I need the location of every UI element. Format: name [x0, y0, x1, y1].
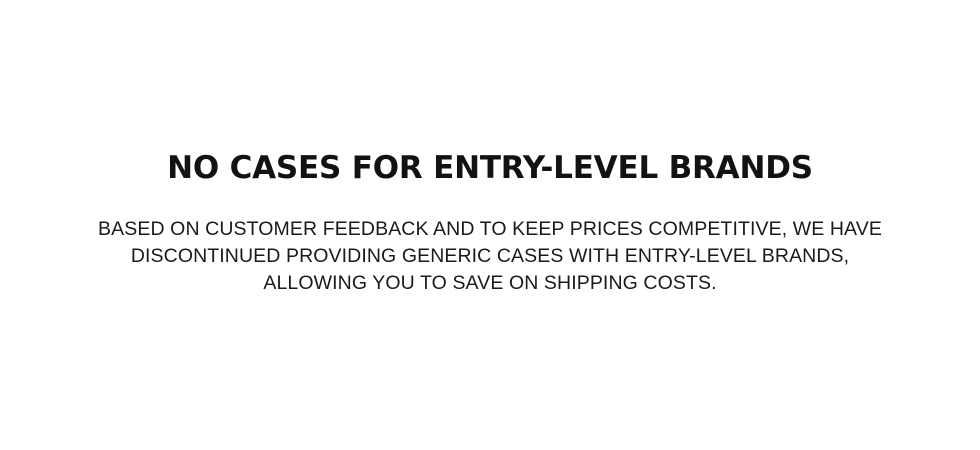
page-title: NO CASES FOR ENTRY-LEVEL BRANDS: [167, 152, 813, 184]
promo-banner: NO CASES FOR ENTRY-LEVEL BRANDS BASED ON…: [0, 0, 980, 450]
promo-description: BASED ON CUSTOMER FEEDBACK AND TO KEEP P…: [90, 184, 890, 297]
